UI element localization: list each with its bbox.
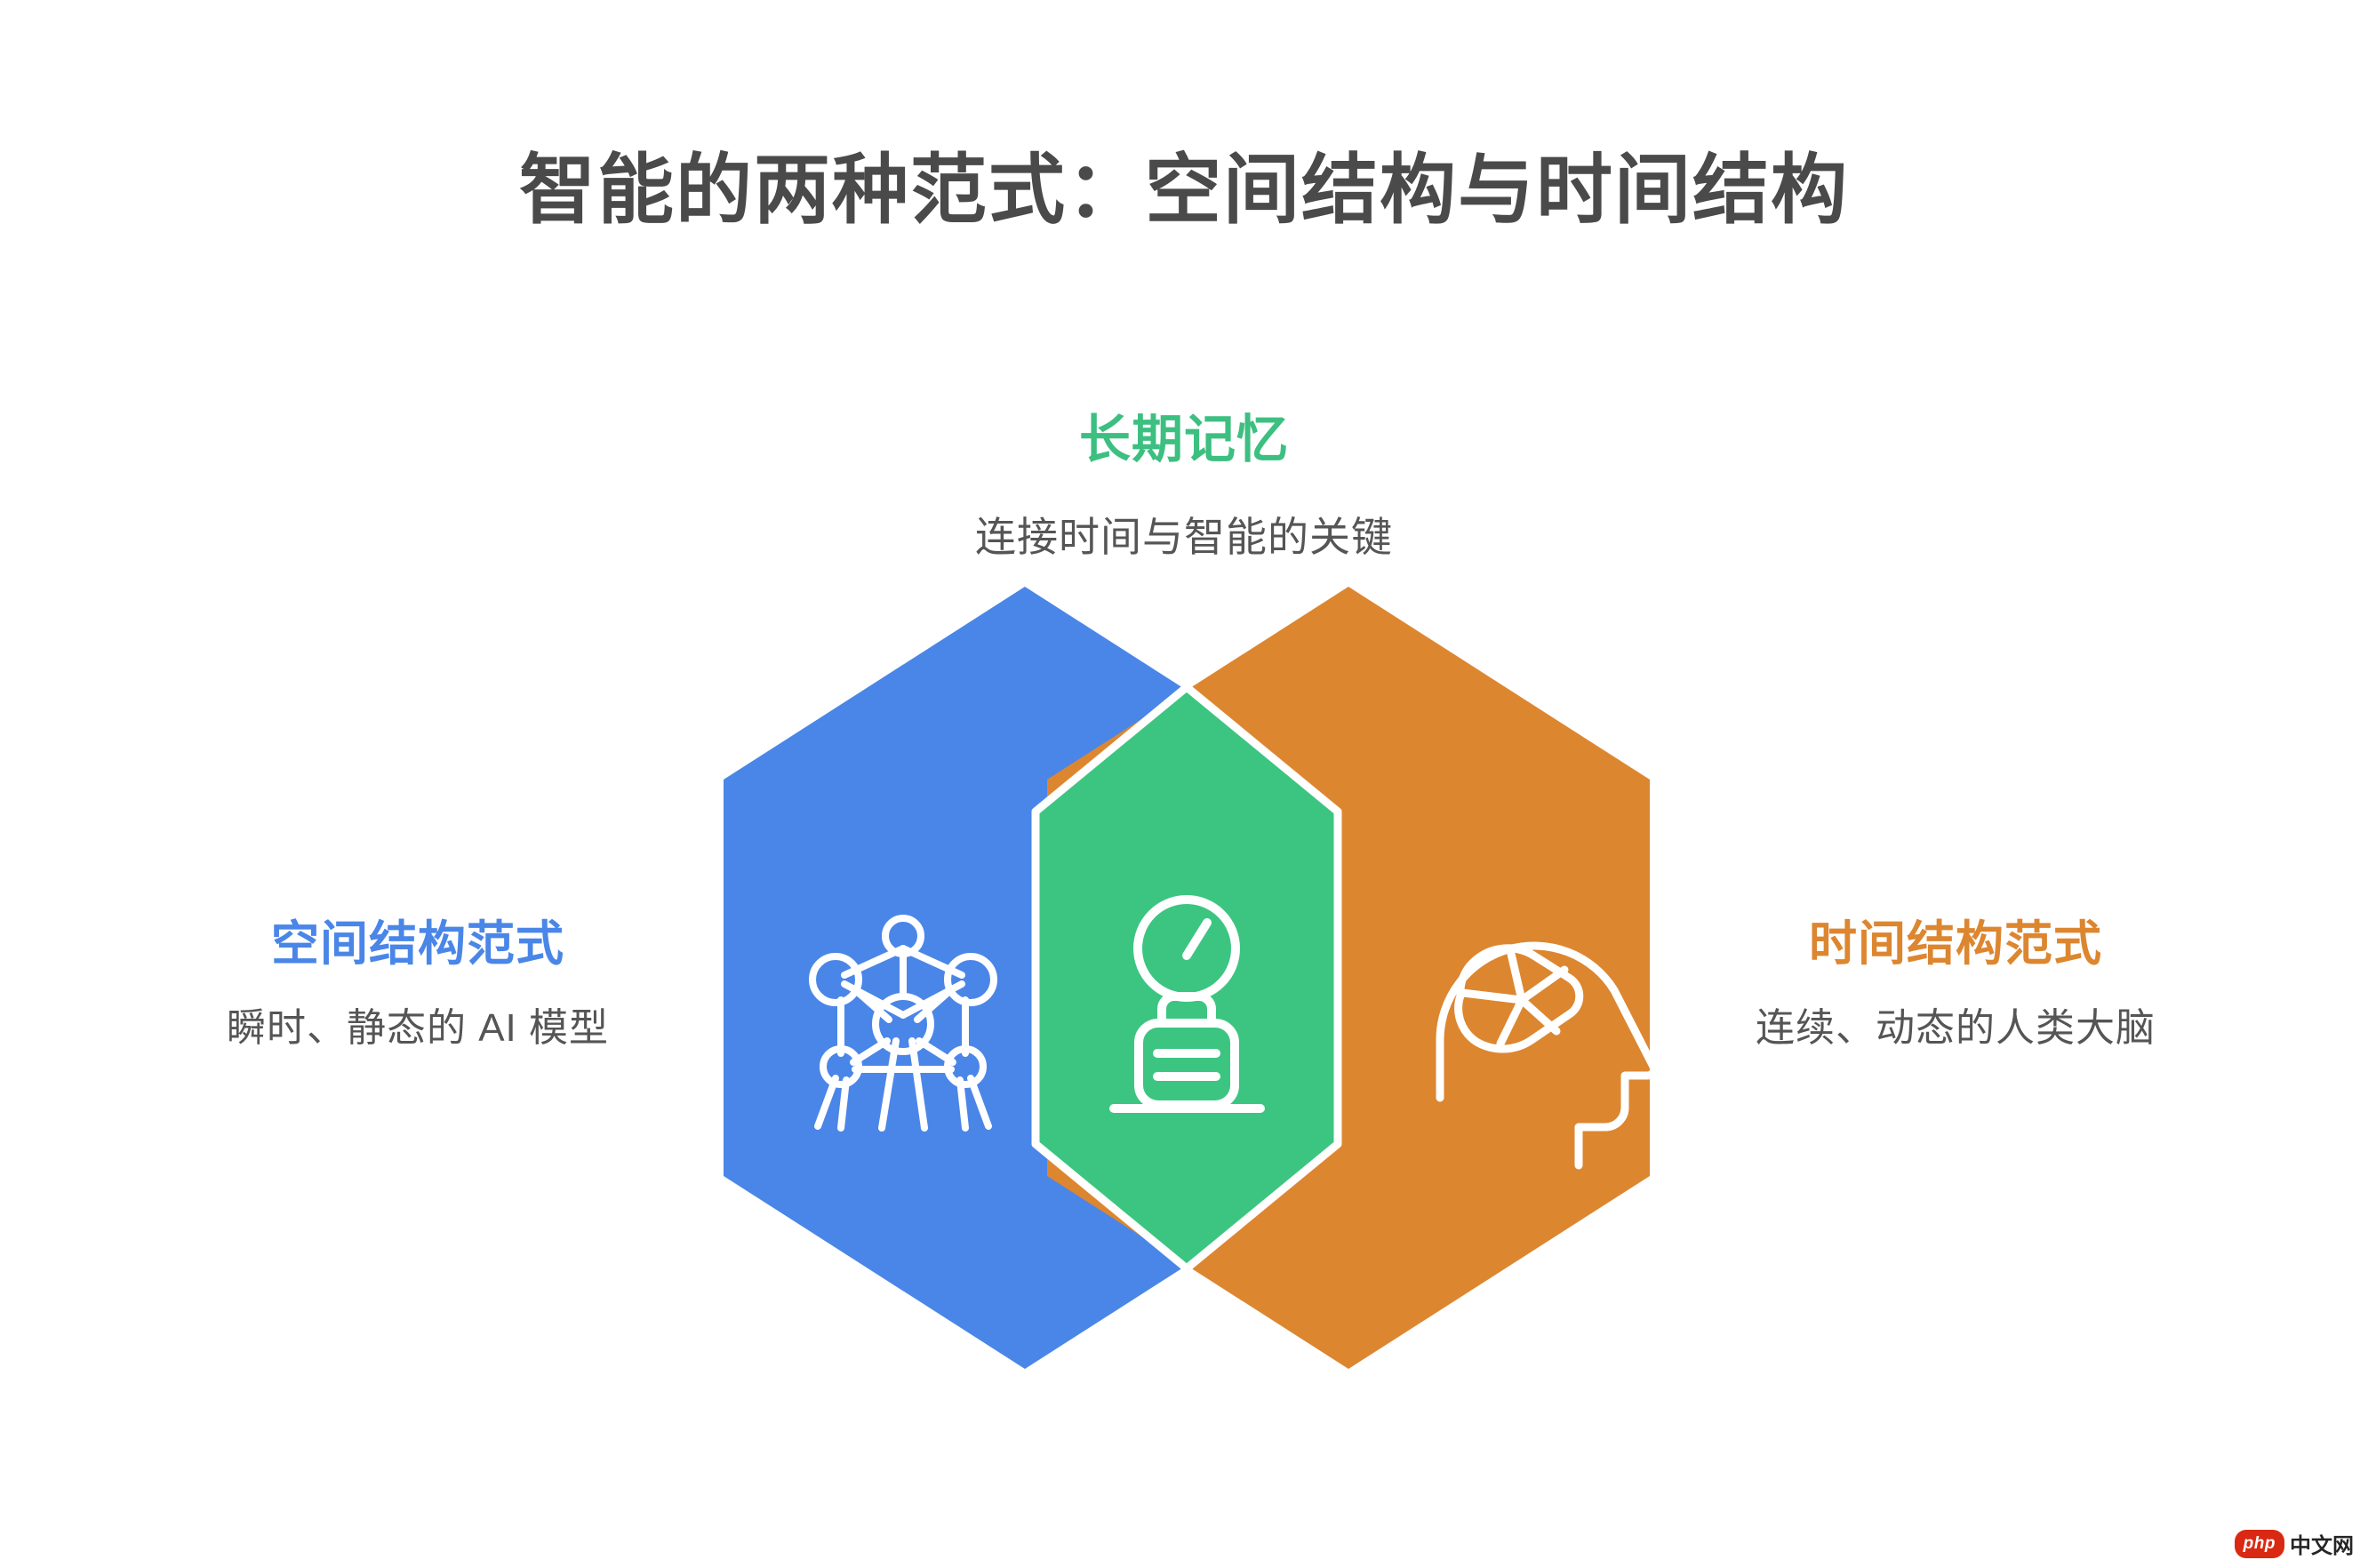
php-logo-badge: php [2235,1530,2284,1558]
page-title: 智能的两种范式：空间结构与时间结构 [0,147,2368,235]
watermark-text: 中文网 [2290,1528,2354,1559]
left-group-label: 空间结构范式 瞬时、静态的 AI 模型 [151,916,684,1052]
watermark: php 中文网 [2235,1528,2354,1559]
left-group-subtitle: 瞬时、静态的 AI 模型 [151,1005,684,1052]
center-hexagon-shape[interactable] [1036,687,1338,1268]
hexagon-venn-diagram [684,582,1689,1373]
right-group-label: 时间结构范式 连续、动态的人类大脑 [1689,916,2222,1052]
center-group-heading: 长期记忆 [0,409,2368,471]
right-group-subtitle: 连续、动态的人类大脑 [1689,1005,2222,1052]
left-group-heading: 空间结构范式 [151,916,684,973]
center-group-subtitle: 连接时间与智能的关键 [0,513,2368,562]
right-group-heading: 时间结构范式 [1689,916,2222,973]
